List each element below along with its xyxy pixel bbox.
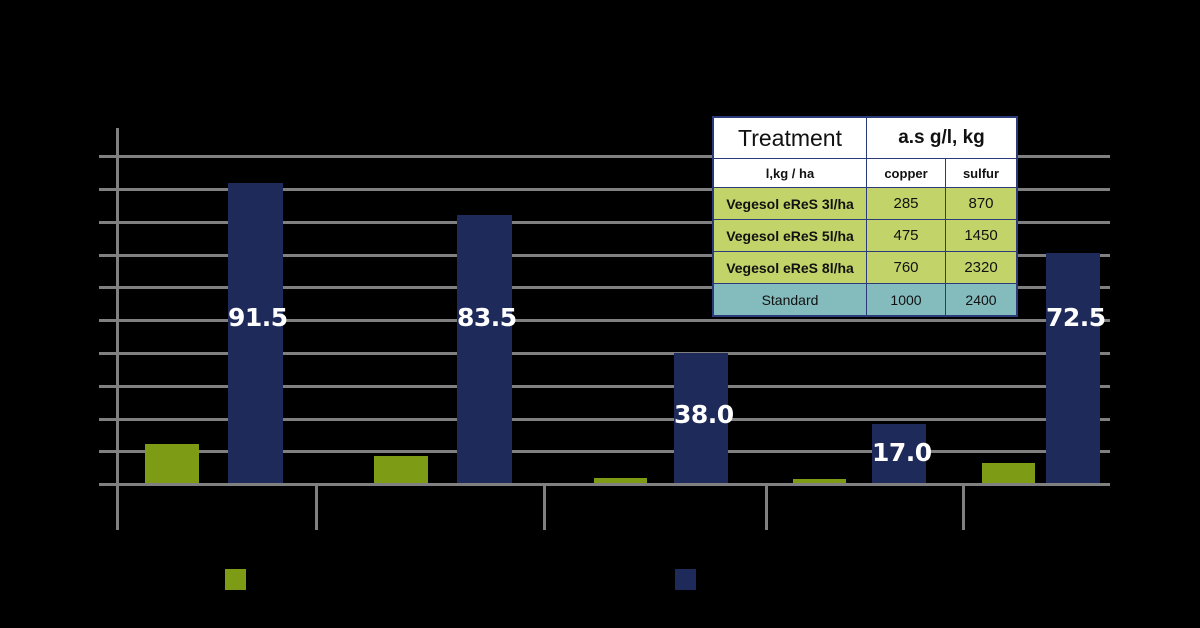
- legend-swatch-navy[interactable]: [675, 569, 696, 590]
- cell-treatment: Standard: [713, 284, 867, 317]
- cell-sulfur: 2320: [946, 252, 1018, 284]
- cell-copper: 1000: [867, 284, 946, 317]
- subheader-sulfur: sulfur: [946, 159, 1018, 188]
- cell-copper: 285: [867, 188, 946, 220]
- chart-canvas: 91.5 83.5 38.0 17.0 72.5 Treatment a.s g…: [0, 0, 1200, 628]
- subheader-copper: copper: [867, 159, 946, 188]
- cell-sulfur: 1450: [946, 220, 1018, 252]
- legend-swatch-green[interactable]: [225, 569, 246, 590]
- cell-treatment: Vegesol eReS 5l/ha: [713, 220, 867, 252]
- header-active-substance: a.s g/l, kg: [867, 117, 1018, 159]
- table-row: Standard 1000 2400: [713, 284, 1017, 317]
- cell-treatment: Vegesol eReS 8l/ha: [713, 252, 867, 284]
- cell-treatment: Vegesol eReS 3l/ha: [713, 188, 867, 220]
- table-row: Vegesol eReS 3l/ha 285 870: [713, 188, 1017, 220]
- cell-copper: 760: [867, 252, 946, 284]
- cell-sulfur: 870: [946, 188, 1018, 220]
- cell-copper: 475: [867, 220, 946, 252]
- table-row: Vegesol eReS 5l/ha 475 1450: [713, 220, 1017, 252]
- cell-sulfur: 2400: [946, 284, 1018, 317]
- table-row: Vegesol eReS 8l/ha 760 2320: [713, 252, 1017, 284]
- treatment-rates-table: Treatment a.s g/l, kg l,kg / ha copper s…: [712, 116, 1018, 317]
- chart-legend: [0, 0, 1200, 628]
- header-treatment: Treatment: [713, 117, 867, 159]
- subheader-units: l,kg / ha: [713, 159, 867, 188]
- table-subheader-row: l,kg / ha copper sulfur: [713, 159, 1017, 188]
- table-header-row: Treatment a.s g/l, kg: [713, 117, 1017, 159]
